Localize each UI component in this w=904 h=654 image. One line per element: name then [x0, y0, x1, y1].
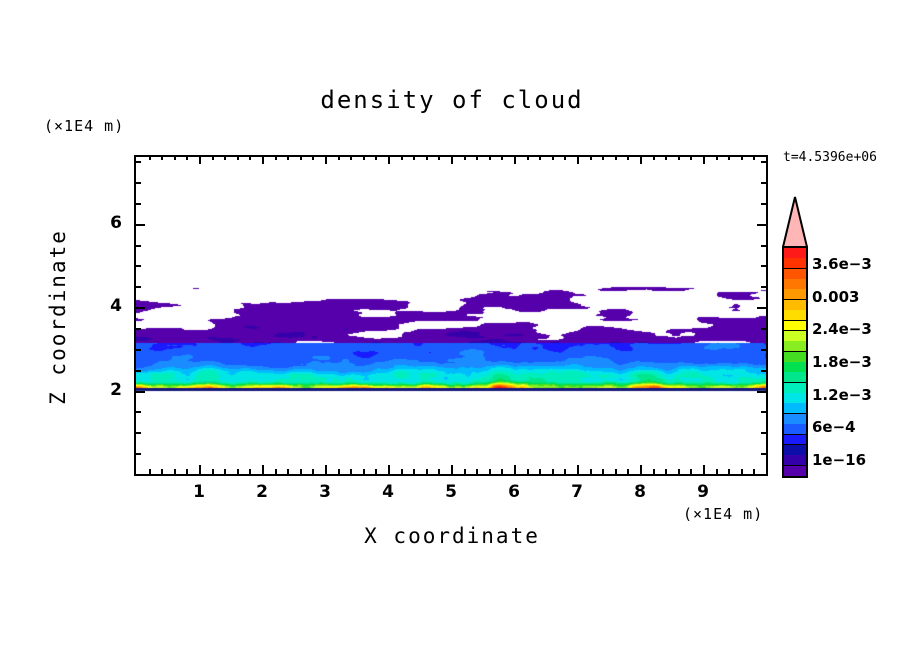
x-minor-tick: [476, 469, 478, 474]
colorbar-band: [784, 310, 806, 321]
y-major-tick: [136, 307, 145, 309]
x-minor-tick: [539, 469, 541, 474]
colorbar-tick-label: 1.8e−3: [812, 353, 872, 371]
x-minor-tick-top: [741, 155, 743, 160]
x-major-tick-top: [703, 155, 705, 164]
x-minor-tick-top: [287, 155, 289, 160]
y-major-tick-right: [757, 224, 766, 226]
x-minor-tick-top: [275, 155, 277, 160]
x-minor-tick-top: [690, 155, 692, 160]
colorbar-band: [784, 279, 806, 290]
x-major-tick-top: [640, 155, 642, 164]
y-minor-tick-right: [761, 432, 766, 434]
y-major-tick: [136, 224, 145, 226]
figure-canvas: density of cloud (×1E4 m) t=4.5396e+06 1…: [0, 0, 904, 654]
y-minor-tick: [136, 245, 141, 247]
x-major-tick: [451, 465, 453, 474]
y-minor-tick: [136, 453, 141, 455]
y-minor-tick: [136, 328, 141, 330]
x-minor-tick: [438, 469, 440, 474]
x-minor-tick-top: [350, 155, 352, 160]
x-minor-tick-top: [413, 155, 415, 160]
y-minor-tick-right: [761, 453, 766, 455]
x-major-tick: [577, 465, 579, 474]
x-minor-tick: [249, 469, 251, 474]
x-minor-tick: [627, 469, 629, 474]
x-axis-title: X coordinate: [0, 524, 904, 548]
x-axis-unit-label: (×1E4 m): [683, 505, 763, 523]
x-minor-tick-top: [426, 155, 428, 160]
x-major-tick-top: [451, 155, 453, 164]
y-axis-title: Z coordinate: [46, 217, 70, 417]
colorbar-tick-label: 1.2e−3: [812, 386, 872, 404]
x-tick-label: 6: [494, 482, 534, 502]
colorbar-band: [784, 362, 806, 373]
x-major-tick: [703, 465, 705, 474]
y-tick-label: 2: [88, 380, 122, 400]
colorbar-band: [784, 321, 806, 332]
x-minor-tick: [653, 469, 655, 474]
colorbar-band: [784, 383, 806, 394]
x-minor-tick: [665, 469, 667, 474]
x-minor-tick: [149, 469, 151, 474]
x-major-tick-top: [388, 155, 390, 164]
x-tick-label: 3: [305, 482, 345, 502]
x-minor-tick-top: [186, 155, 188, 160]
x-minor-tick-top: [602, 155, 604, 160]
x-minor-tick: [602, 469, 604, 474]
y-minor-tick-right: [761, 161, 766, 163]
colorbar-band: [784, 393, 806, 404]
x-minor-tick: [413, 469, 415, 474]
x-minor-tick: [401, 469, 403, 474]
x-minor-tick: [564, 469, 566, 474]
x-minor-tick: [350, 469, 352, 474]
x-tick-label: 9: [683, 482, 723, 502]
y-minor-tick: [136, 182, 141, 184]
x-major-tick-top: [199, 155, 201, 164]
x-minor-tick-top: [539, 155, 541, 160]
x-minor-tick-top: [174, 155, 176, 160]
page-title: density of cloud: [0, 86, 904, 114]
colorbar-band: [784, 414, 806, 425]
x-minor-tick-top: [312, 155, 314, 160]
colorbar-band: [784, 466, 806, 477]
x-minor-tick: [312, 469, 314, 474]
x-minor-tick: [275, 469, 277, 474]
x-minor-tick: [615, 469, 617, 474]
y-major-tick: [136, 391, 145, 393]
y-tick-label: 4: [88, 296, 122, 316]
x-minor-tick-top: [401, 155, 403, 160]
x-minor-tick-top: [527, 155, 529, 160]
colorbar-band: [784, 248, 806, 259]
x-major-tick-top: [325, 155, 327, 164]
x-minor-tick: [363, 469, 365, 474]
y-minor-tick: [136, 411, 141, 413]
x-minor-tick-top: [627, 155, 629, 160]
x-minor-tick-top: [212, 155, 214, 160]
x-minor-tick: [728, 469, 730, 474]
x-major-tick: [325, 465, 327, 474]
y-minor-tick-right: [761, 411, 766, 413]
x-minor-tick: [161, 469, 163, 474]
colorbar-band: [784, 331, 806, 342]
x-minor-tick: [224, 469, 226, 474]
x-minor-tick: [678, 469, 680, 474]
x-minor-tick: [174, 469, 176, 474]
y-minor-tick-right: [761, 349, 766, 351]
colorbar-band: [784, 372, 806, 383]
colorbar-tick-label: 0.003: [812, 288, 859, 306]
colorbar-band: [784, 300, 806, 311]
x-major-tick: [388, 465, 390, 474]
x-minor-tick: [212, 469, 214, 474]
y-minor-tick-right: [761, 370, 766, 372]
x-minor-tick: [489, 469, 491, 474]
x-minor-tick: [716, 469, 718, 474]
x-minor-tick: [753, 469, 755, 474]
x-minor-tick-top: [665, 155, 667, 160]
colorbar-band: [784, 289, 806, 300]
y-minor-tick-right: [761, 265, 766, 267]
x-tick-label: 5: [431, 482, 471, 502]
y-minor-tick-right: [761, 245, 766, 247]
x-minor-tick-top: [149, 155, 151, 160]
y-minor-tick: [136, 349, 141, 351]
x-minor-tick: [237, 469, 239, 474]
x-major-tick: [262, 465, 264, 474]
x-tick-label: 2: [242, 482, 282, 502]
x-minor-tick-top: [716, 155, 718, 160]
y-minor-tick: [136, 161, 141, 163]
x-minor-tick-top: [464, 155, 466, 160]
colorbar-band: [784, 445, 806, 456]
contour-field: [136, 157, 766, 474]
x-major-tick: [514, 465, 516, 474]
x-minor-tick-top: [552, 155, 554, 160]
y-minor-tick: [136, 286, 141, 288]
x-minor-tick-top: [249, 155, 251, 160]
x-minor-tick-top: [653, 155, 655, 160]
x-minor-tick: [527, 469, 529, 474]
x-minor-tick: [426, 469, 428, 474]
x-minor-tick-top: [161, 155, 163, 160]
x-minor-tick-top: [615, 155, 617, 160]
y-minor-tick: [136, 203, 141, 205]
x-minor-tick-top: [224, 155, 226, 160]
y-minor-tick-right: [761, 182, 766, 184]
x-minor-tick: [464, 469, 466, 474]
y-major-tick-right: [757, 307, 766, 309]
y-major-tick-right: [757, 391, 766, 393]
x-major-tick-top: [514, 155, 516, 164]
y-minor-tick: [136, 432, 141, 434]
x-minor-tick-top: [438, 155, 440, 160]
y-minor-tick-right: [761, 328, 766, 330]
y-axis-unit-label: (×1E4 m): [44, 117, 124, 135]
y-minor-tick: [136, 370, 141, 372]
x-minor-tick-top: [564, 155, 566, 160]
x-minor-tick-top: [678, 155, 680, 160]
x-minor-tick-top: [489, 155, 491, 160]
x-minor-tick: [300, 469, 302, 474]
x-tick-label: 8: [620, 482, 660, 502]
x-minor-tick-top: [753, 155, 755, 160]
colorbar-tick-label: 2.4e−3: [812, 320, 872, 338]
timestamp-label: t=4.5396e+06: [783, 150, 877, 165]
colorbar-band: [784, 341, 806, 352]
x-minor-tick: [552, 469, 554, 474]
x-minor-tick: [590, 469, 592, 474]
x-minor-tick-top: [375, 155, 377, 160]
colorbar: 3.6e−30.0032.4e−31.8e−31.2e−36e−41e−16: [780, 196, 904, 486]
x-minor-tick: [338, 469, 340, 474]
x-minor-tick-top: [590, 155, 592, 160]
colorbar-bands: [782, 246, 808, 478]
colorbar-band: [784, 258, 806, 269]
x-minor-tick: [186, 469, 188, 474]
x-minor-tick-top: [363, 155, 365, 160]
x-tick-label: 1: [179, 482, 219, 502]
y-minor-tick-right: [761, 203, 766, 205]
colorbar-band: [784, 424, 806, 435]
x-minor-tick-top: [728, 155, 730, 160]
colorbar-tick-label: 3.6e−3: [812, 255, 872, 273]
x-major-tick: [199, 465, 201, 474]
x-tick-label: 7: [557, 482, 597, 502]
colorbar-band: [784, 435, 806, 446]
colorbar-band: [784, 455, 806, 466]
x-minor-tick: [690, 469, 692, 474]
y-tick-label: 6: [88, 213, 122, 233]
colorbar-band: [784, 403, 806, 414]
colorbar-band: [784, 269, 806, 280]
x-minor-tick-top: [237, 155, 239, 160]
x-minor-tick-top: [501, 155, 503, 160]
x-minor-tick: [287, 469, 289, 474]
x-major-tick: [640, 465, 642, 474]
x-minor-tick-top: [476, 155, 478, 160]
x-major-tick-top: [577, 155, 579, 164]
colorbar-band: [784, 352, 806, 363]
x-minor-tick-top: [338, 155, 340, 160]
x-minor-tick-top: [300, 155, 302, 160]
colorbar-tick-label: 6e−4: [812, 418, 856, 436]
colorbar-tick-label: 1e−16: [812, 451, 866, 469]
plot-area: [134, 155, 768, 476]
y-minor-tick-right: [761, 286, 766, 288]
colorbar-cap-arrow: [782, 196, 808, 248]
x-minor-tick: [375, 469, 377, 474]
x-major-tick-top: [262, 155, 264, 164]
x-minor-tick: [741, 469, 743, 474]
x-tick-label: 4: [368, 482, 408, 502]
y-minor-tick: [136, 265, 141, 267]
x-minor-tick: [501, 469, 503, 474]
